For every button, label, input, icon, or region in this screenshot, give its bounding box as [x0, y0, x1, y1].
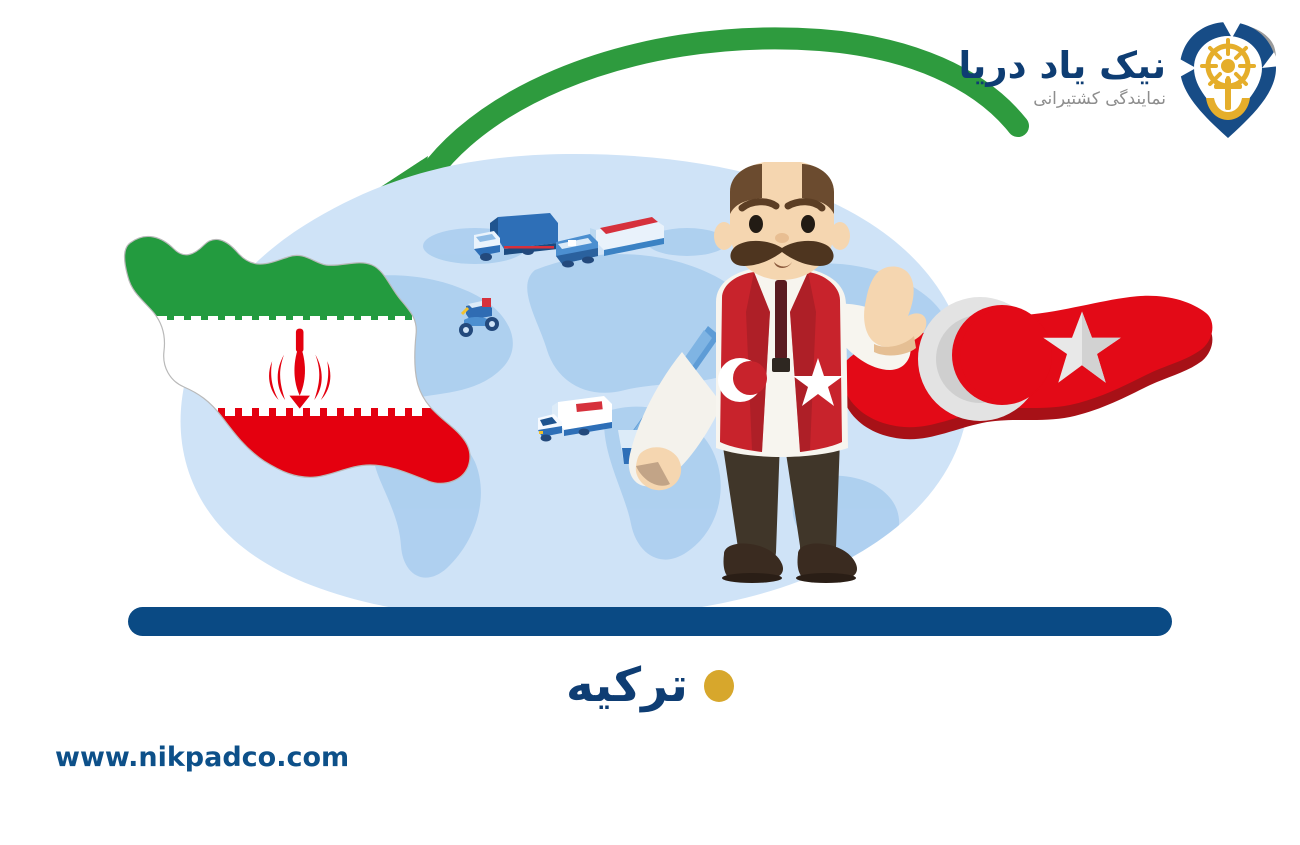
delivery-van-icon: [532, 392, 617, 454]
caption-row: ترکیه: [0, 662, 1300, 709]
poster-canvas: ترکیه www.nikpadco.com نیک یاد دریا نمای…: [0, 0, 1300, 845]
delivery-scooter-icon: [452, 292, 508, 342]
turkish-man-with-fez-thumbs-up: [612, 162, 957, 622]
brand-logo[interactable]: نیک یاد دریا نمایندگی کشتیرانی: [959, 18, 1281, 142]
iran-map-flag: [118, 215, 488, 505]
brand-logo-text: نیک یاد دریا نمایندگی کشتیرانی: [959, 47, 1167, 114]
brand-tagline: نمایندگی کشتیرانی: [1033, 89, 1166, 109]
brand-name: نیک یاد دریا: [959, 47, 1167, 86]
compass-ship-wheel-anchor-logo: [1176, 18, 1280, 142]
caption-title: ترکیه: [566, 662, 688, 709]
website-url-link[interactable]: www.nikpadco.com: [55, 742, 349, 773]
caption-bullet-dot: [704, 670, 734, 702]
blue-divider-bar: [128, 607, 1172, 636]
